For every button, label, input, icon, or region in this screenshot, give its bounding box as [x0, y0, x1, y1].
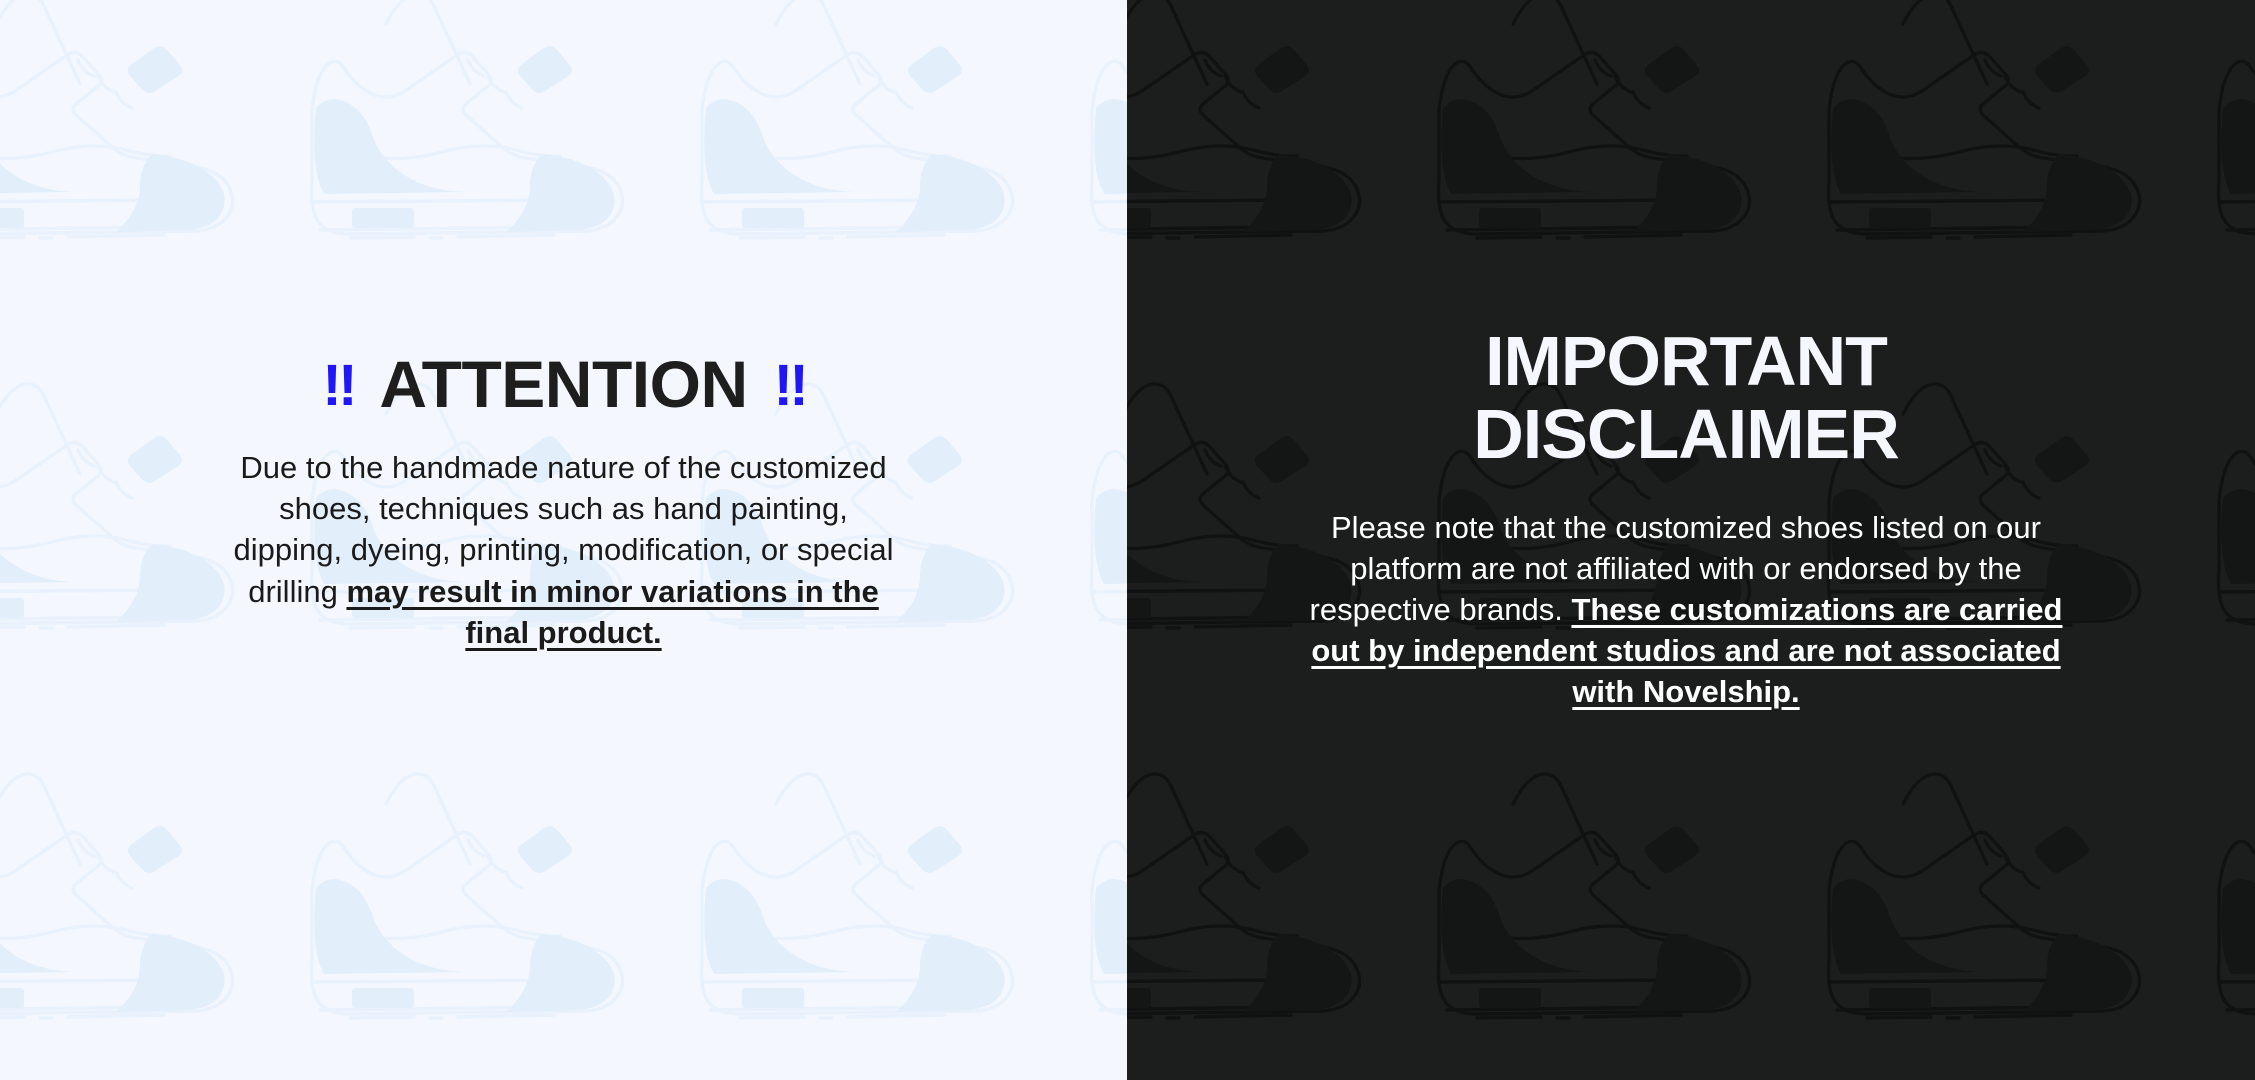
attention-body-emphasis: may result in minor variations in the fi… — [346, 574, 878, 650]
attention-disclaimer-banner: ‼ATTENTION‼ Due to the handmade nature o… — [0, 0, 2255, 1080]
disclaimer-heading-line-1: IMPORTANT — [1276, 325, 2096, 398]
disclaimer-panel: IMPORTANT DISCLAIMER Please note that th… — [1127, 0, 2255, 1080]
disclaimer-heading: IMPORTANT DISCLAIMER — [1276, 325, 2096, 471]
disclaimer-content: IMPORTANT DISCLAIMER Please note that th… — [1276, 325, 2096, 713]
disclaimer-heading-line-2: DISCLAIMER — [1276, 398, 2096, 471]
double-exclamation-icon-left: ‼ — [322, 353, 353, 418]
double-exclamation-icon-right: ‼ — [774, 353, 805, 418]
attention-heading-text: ATTENTION — [379, 347, 747, 421]
attention-body: Due to the handmade nature of the custom… — [184, 447, 944, 653]
disclaimer-body: Please note that the customized shoes li… — [1276, 507, 2096, 713]
attention-panel: ‼ATTENTION‼ Due to the handmade nature o… — [0, 0, 1127, 1080]
attention-heading: ‼ATTENTION‼ — [184, 351, 944, 417]
attention-content: ‼ATTENTION‼ Due to the handmade nature o… — [184, 351, 944, 653]
